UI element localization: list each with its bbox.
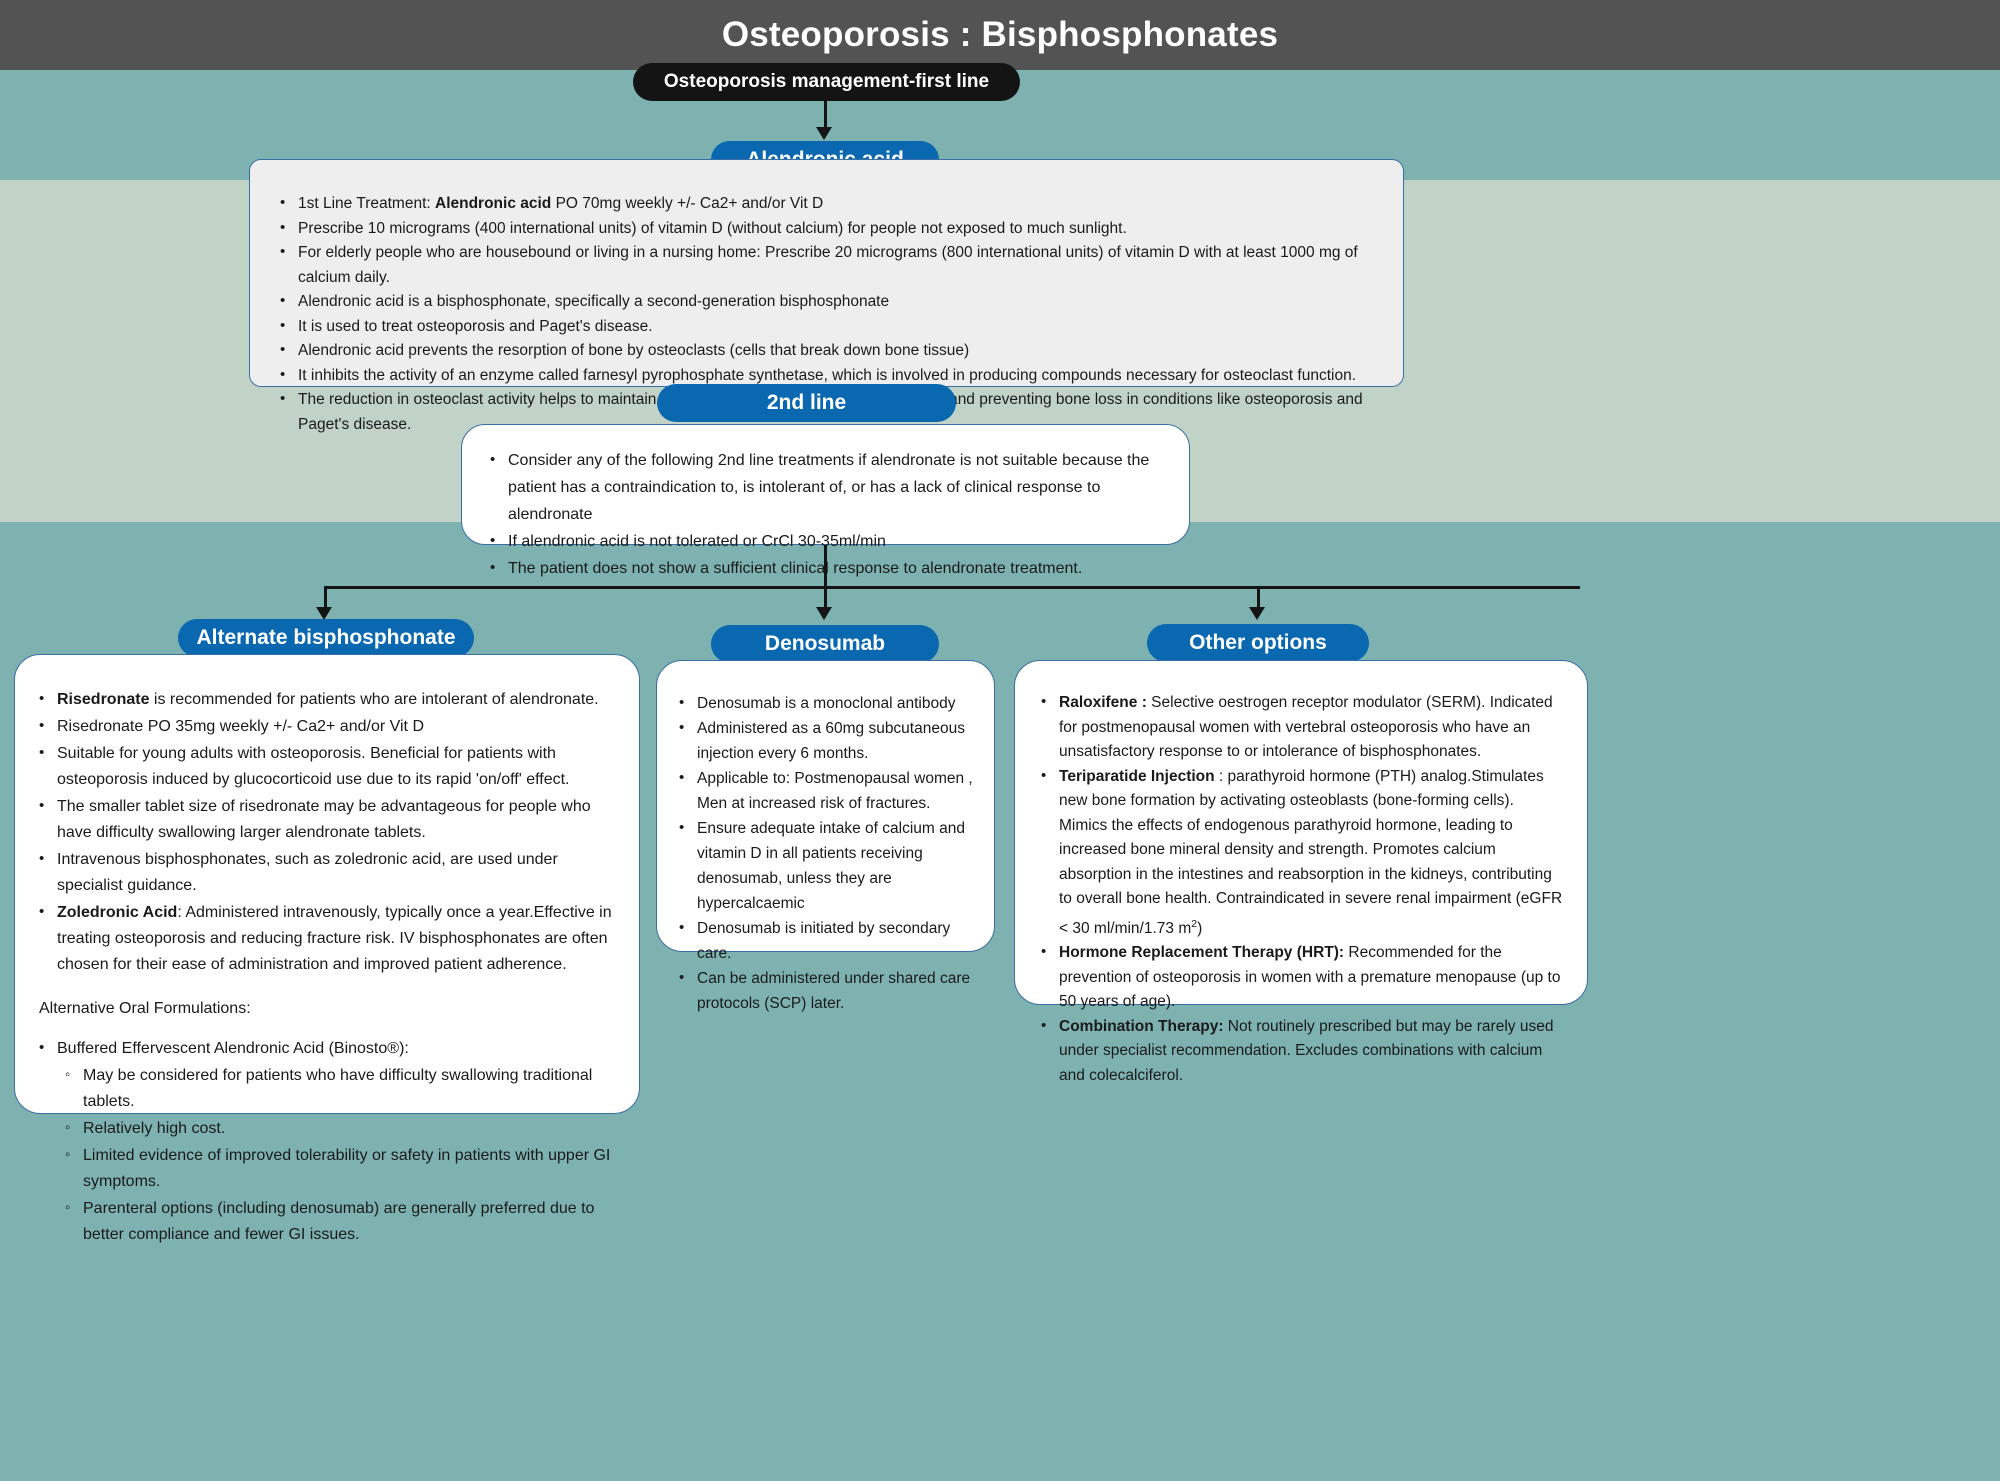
formulations-bullet-list: Buffered Effervescent Alendronic Acid (B…: [35, 1036, 619, 1062]
list-item: Denosumab is initiated by secondary care…: [675, 916, 976, 966]
connector-second-line-stem: [824, 545, 827, 587]
list-item: Relatively high cost.: [61, 1116, 619, 1142]
arrowhead-alendronic: [816, 127, 832, 140]
list-item: Denosumab is a monoclonal antibody: [675, 691, 976, 716]
arrowhead-denosumab: [816, 607, 832, 620]
list-item: Intravenous bisphosphonates, such as zol…: [35, 847, 619, 899]
list-item: May be considered for patients who have …: [61, 1063, 619, 1115]
list-item: For elderly people who are housebound or…: [276, 241, 1377, 290]
node-denosumab[interactable]: Denosumab: [711, 625, 939, 663]
card-alendronic-acid: 1st Line Treatment: Alendronic acid PO 7…: [249, 159, 1404, 387]
connector-branch-bar: [325, 586, 1580, 589]
node-other-options[interactable]: Other options: [1147, 624, 1369, 662]
list-item: Prescribe 10 micrograms (400 internation…: [276, 217, 1377, 242]
list-item: Administered as a 60mg subcutaneous inje…: [675, 716, 976, 766]
alternate-bullet-list: Risedronate is recommended for patients …: [35, 687, 619, 978]
formulations-sub-bullet-list: May be considered for patients who have …: [61, 1063, 619, 1248]
list-item: Hormone Replacement Therapy (HRT): Recom…: [1037, 941, 1565, 1015]
card-denosumab: Denosumab is a monoclonal antibody Admin…: [656, 660, 995, 952]
list-item: Parenteral options (including denosumab)…: [61, 1196, 619, 1248]
node-alternate-bisphosphonate[interactable]: Alternate bisphosphonate: [178, 619, 474, 657]
list-item: Raloxifene : Selective oestrogen recepto…: [1037, 691, 1565, 765]
list-item: 1st Line Treatment: Alendronic acid PO 7…: [276, 192, 1377, 217]
list-item: The smaller tablet size of risedronate m…: [35, 794, 619, 846]
list-item: Alendronic acid is a bisphosphonate, spe…: [276, 290, 1377, 315]
list-item: Risedronate is recommended for patients …: [35, 687, 619, 713]
card-2nd-line: Consider any of the following 2nd line t…: [461, 424, 1190, 545]
connector-root-to-alendronic: [824, 101, 827, 130]
node-osteoporosis-management-first-line[interactable]: Osteoporosis management-first line: [633, 63, 1020, 101]
list-item: Limited evidence of improved tolerabilit…: [61, 1143, 619, 1195]
list-item: Combination Therapy: Not routinely presc…: [1037, 1015, 1565, 1089]
list-item: Suitable for young adults with osteoporo…: [35, 741, 619, 793]
list-item: Alendronic acid prevents the resorption …: [276, 339, 1377, 364]
other-options-bullet-list: Raloxifene : Selective oestrogen recepto…: [1037, 691, 1565, 1088]
list-item: Teriparatide Injection : parathyroid hor…: [1037, 765, 1565, 942]
list-item: It is used to treat osteoporosis and Pag…: [276, 315, 1377, 340]
list-item: Ensure adequate intake of calcium and vi…: [675, 816, 976, 916]
card-alternate-bisphosphonate: Risedronate is recommended for patients …: [14, 654, 640, 1114]
list-item: Buffered Effervescent Alendronic Acid (B…: [35, 1036, 619, 1062]
list-item: Zoledronic Acid: Administered intravenou…: [35, 900, 619, 978]
list-item: Consider any of the following 2nd line t…: [486, 447, 1165, 528]
arrowhead-other-options: [1249, 607, 1265, 620]
list-item: Can be administered under shared care pr…: [675, 966, 976, 1016]
flowchart-canvas: Osteoporosis : Bisphosphonates Osteoporo…: [0, 0, 2000, 1481]
list-item: Applicable to: Postmenopausal women , Me…: [675, 766, 976, 816]
alternative-oral-formulations-heading: Alternative Oral Formulations:: [39, 996, 619, 1022]
page-title: Osteoporosis : Bisphosphonates: [0, 0, 2000, 70]
list-item: Risedronate PO 35mg weekly +/- Ca2+ and/…: [35, 714, 619, 740]
card-other-options: Raloxifene : Selective oestrogen recepto…: [1014, 660, 1588, 1005]
denosumab-bullet-list: Denosumab is a monoclonal antibody Admin…: [675, 691, 976, 1016]
node-2nd-line[interactable]: 2nd line: [657, 384, 956, 422]
